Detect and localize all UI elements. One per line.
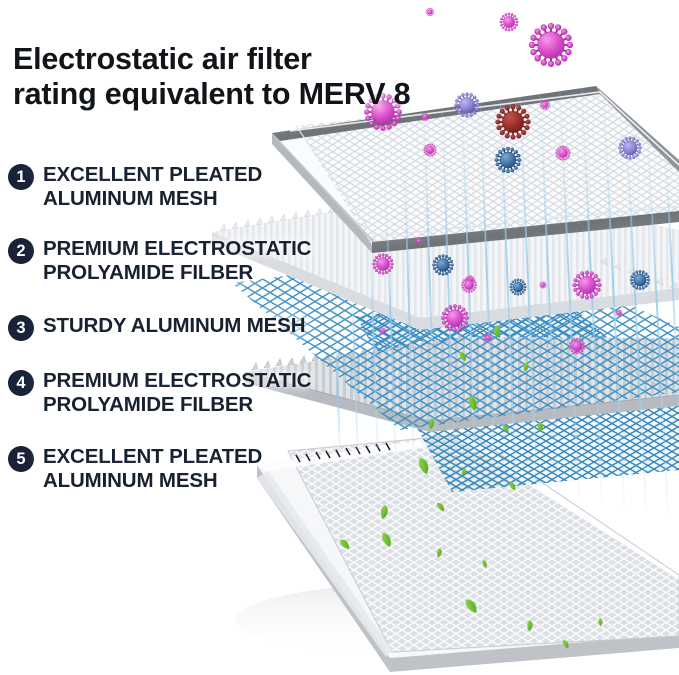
feature-number-badge-2: 2 <box>8 238 34 264</box>
feature-number-badge-3: 3 <box>8 315 34 341</box>
feature-item-1: 1 EXCELLENT PLEATED ALUMINUM MESH <box>8 163 262 211</box>
feature-label-3: STURDY ALUMINUM MESH <box>43 314 305 338</box>
feature-number-badge-1: 1 <box>8 164 34 190</box>
feature-item-2: 2 PREMIUM ELECTROSTATIC PROLYAMIDE FILBE… <box>8 237 311 285</box>
feature-label-1: EXCELLENT PLEATED ALUMINUM MESH <box>43 163 262 211</box>
title-line-1: Electrostatic air filter <box>13 42 312 76</box>
feature-item-4: 4 PREMIUM ELECTROSTATIC PROLYAMIDE FILBE… <box>8 369 311 417</box>
feature-item-3: 3 STURDY ALUMINUM MESH <box>8 314 305 341</box>
infographic-root: Electrostatic air filter rating equivale… <box>0 0 679 675</box>
feature-number-badge-4: 4 <box>8 370 34 396</box>
feature-number-badge-5: 5 <box>8 446 34 472</box>
feature-label-5: EXCELLENT PLEATED ALUMINUM MESH <box>43 445 262 493</box>
page-title: Electrostatic air filter rating equivale… <box>13 42 483 110</box>
feature-item-5: 5 EXCELLENT PLEATED ALUMINUM MESH <box>8 445 262 493</box>
feature-label-2: PREMIUM ELECTROSTATIC PROLYAMIDE FILBER <box>43 237 311 285</box>
feature-label-4: PREMIUM ELECTROSTATIC PROLYAMIDE FILBER <box>43 369 311 417</box>
title-line-2: rating equivalent to MERV 8 <box>13 77 483 111</box>
